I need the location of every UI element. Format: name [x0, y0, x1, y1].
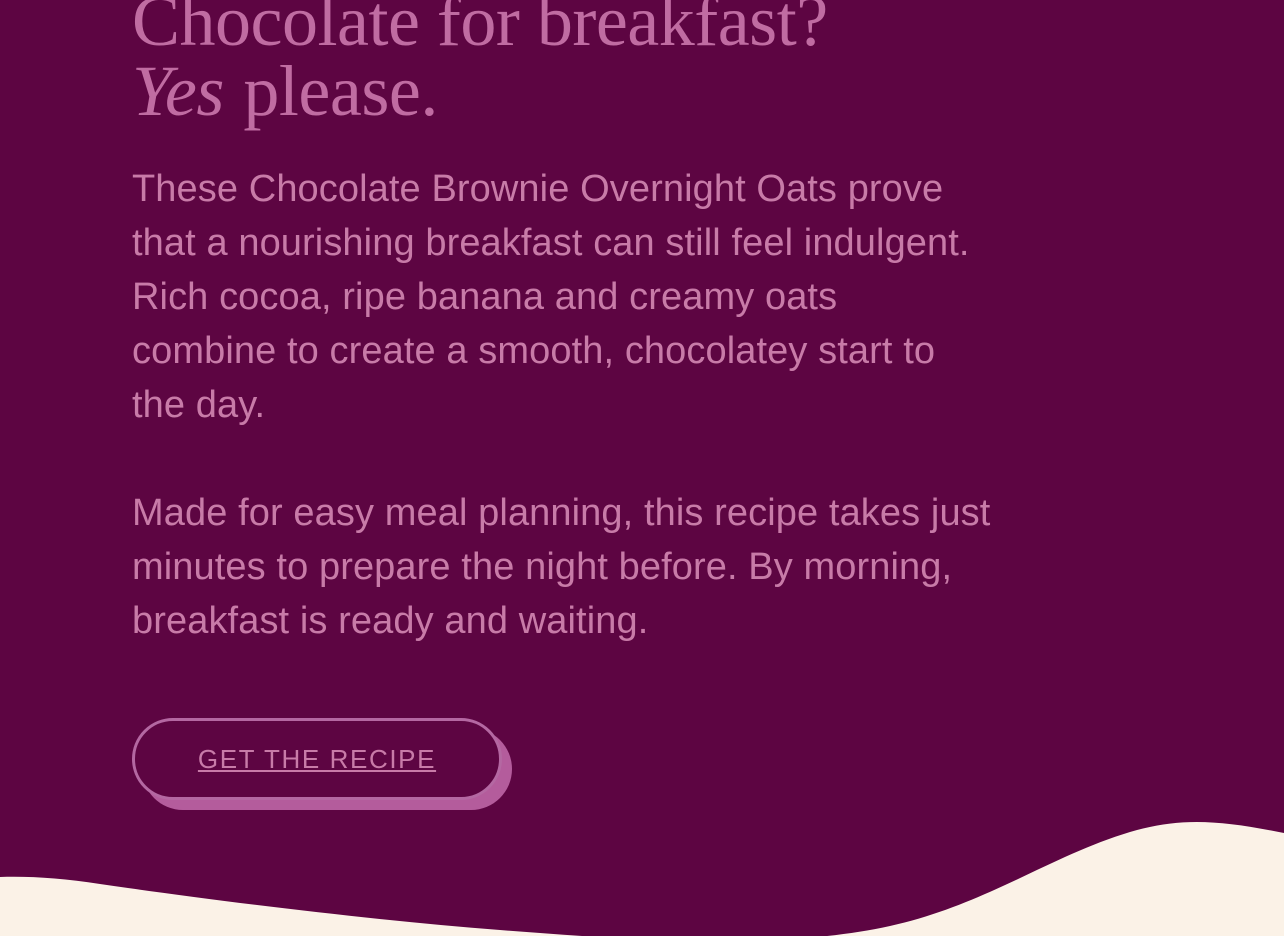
headline-line-1: Chocolate for breakfast?: [132, 0, 1032, 56]
cta-container: GET THE RECIPE: [132, 718, 512, 818]
headline-line-2-rest: please.: [226, 51, 438, 131]
page-title: Chocolate for breakfast? Yes please.: [132, 0, 1032, 126]
headline-line-2: Yes please.: [132, 56, 1032, 126]
hero-paragraph-2: Made for easy meal planning, this recipe…: [132, 486, 992, 648]
get-the-recipe-button[interactable]: GET THE RECIPE: [132, 718, 502, 800]
hero-paragraph-1: These Chocolate Brownie Overnight Oats p…: [132, 162, 992, 432]
hero-content: Chocolate for breakfast? Yes please. The…: [132, 0, 1032, 818]
hero-panel: Chocolate for breakfast? Yes please. The…: [0, 0, 1284, 936]
headline-emphasis: Yes: [132, 51, 226, 131]
